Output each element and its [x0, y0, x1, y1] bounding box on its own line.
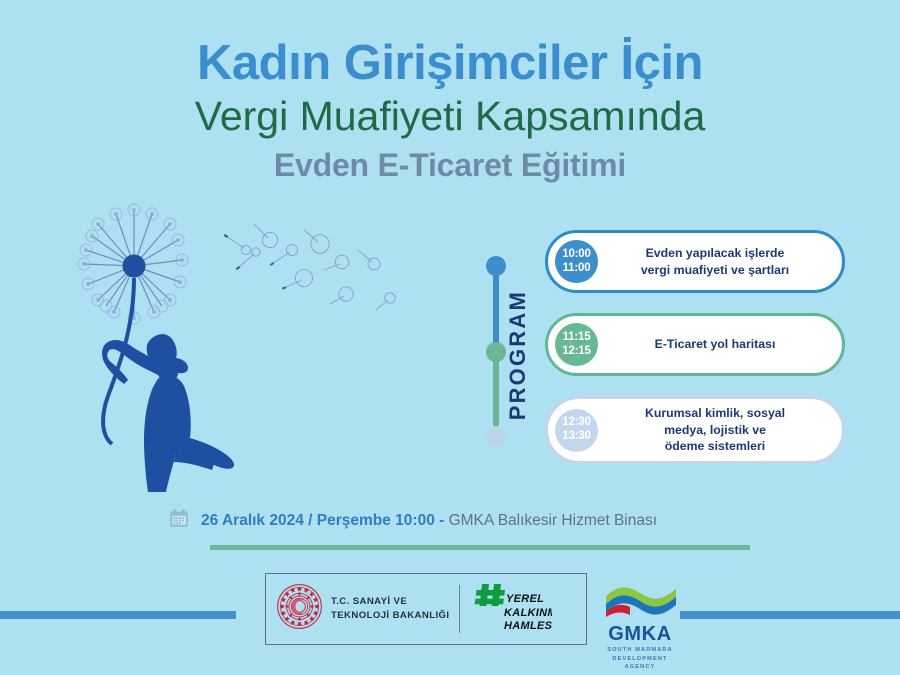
program-card-line-3c: ödeme sistemleri: [602, 438, 828, 455]
event-venue: GMKA Balıkesir Hizmet Binası: [449, 512, 657, 529]
timeline-dot-2: [486, 342, 506, 362]
program-time-badge-2: 11:15 12:15: [555, 323, 598, 366]
program-time-badge-1: 10:00 11:00: [555, 240, 598, 283]
timeline-dot-1: [486, 256, 506, 276]
program-card-line-2a: E-Ticaret yol haritası: [602, 336, 828, 353]
event-date-row: 26 Aralık 2024 / Perşembe 10:00 - GMKA B…: [168, 507, 657, 534]
program-card-text-3: Kurumsal kimlik, sosyal medya, lojistik …: [598, 405, 842, 456]
time-end-3: 13:30: [562, 430, 590, 444]
program-time-badge-3: 12:30 13:30: [555, 409, 598, 452]
hamle-line-3: HAMLESİ: [504, 619, 552, 632]
time-end-1: 11:00: [563, 262, 591, 276]
gmka-sub-line-2: DEVELOPMENT AGENCY: [596, 655, 684, 672]
program-card-list: 10:00 11:00 Evden yapılacak işlerde verg…: [545, 230, 845, 464]
footer-logo-strip: T.C. SANAYİ VE TEKNOLOJİ BAKANLIĞI YEREL…: [265, 573, 587, 645]
hashtag-icon: [475, 584, 505, 606]
poster-title-third: Evden E-Ticaret Eğitimi: [0, 146, 900, 184]
time-start-3: 12:30: [562, 416, 590, 430]
calendar-icon: [168, 507, 190, 534]
footer-bar-left: [0, 611, 236, 619]
event-separator: -: [435, 512, 449, 529]
gmka-subtitle: SOUTH MARMARA DEVELOPMENT AGENCY: [596, 646, 684, 672]
program-card-text-1: Evden yapılacak işlerde vergi muafiyeti …: [598, 245, 842, 279]
poster-title-sub: Vergi Muafiyeti Kapsamında: [0, 92, 900, 140]
poster-canvas: Kadın Girişimciler İçin Vergi Muafiyeti …: [0, 0, 900, 675]
footer-bar-right: [680, 611, 900, 619]
poster-title-main: Kadın Girişimciler İçin: [0, 38, 900, 89]
gmka-logo: GMKA SOUTH MARMARA DEVELOPMENT AGENCY: [596, 583, 684, 672]
program-card-line-1b: vergi muafiyeti ve şartları: [602, 262, 828, 279]
program-card-line-1a: Evden yapılacak işlerde: [602, 245, 828, 262]
program-card-2[interactable]: 11:15 12:15 E-Ticaret yol haritası: [545, 313, 845, 376]
title-block: Kadın Girişimciler İçin Vergi Muafiyeti …: [0, 38, 900, 185]
gmka-sub-line-1: SOUTH MARMARA: [596, 646, 684, 655]
program-card-line-3b: medya, lojistik ve: [602, 422, 828, 439]
program-label: PROGRAM: [505, 290, 531, 420]
program-card-3[interactable]: 12:30 13:30 Kurumsal kimlik, sosyal medy…: [545, 396, 845, 464]
logo-divider: [459, 585, 460, 633]
ministry-line-2: TEKNOLOJİ BAKANLIĞI: [331, 609, 449, 623]
ministry-logo: T.C. SANAYİ VE TEKNOLOJİ BAKANLIĞI: [266, 583, 449, 635]
ministry-line-1: T.C. SANAYİ VE: [331, 595, 449, 609]
hamle-line-1: YEREL: [506, 593, 544, 605]
program-card-line-3a: Kurumsal kimlik, sosyal: [602, 405, 828, 422]
event-date-text: 26 Aralık 2024 / Perşembe 10:00 - GMKA B…: [201, 513, 657, 529]
gmka-swoosh-icon: [596, 604, 684, 621]
ministry-name: T.C. SANAYİ VE TEKNOLOJİ BAKANLIĞI: [331, 595, 449, 622]
yerel-kalkinma-hamlesi-logo: YEREL KALKINMA HAMLESİ: [474, 580, 552, 639]
time-start-2: 11:15: [563, 331, 591, 345]
turkish-ministry-emblem-icon: [276, 583, 323, 635]
program-card-text-2: E-Ticaret yol haritası: [598, 336, 842, 353]
event-date: 26 Aralık 2024 / Perşembe 10:00: [201, 512, 435, 529]
gmka-wordmark: GMKA: [596, 624, 684, 644]
program-card-1[interactable]: 10:00 11:00 Evden yapılacak işlerde verg…: [545, 230, 845, 293]
time-start-1: 10:00: [562, 248, 590, 262]
time-end-2: 12:15: [562, 345, 590, 359]
hamle-line-2: KALKINMA: [504, 607, 552, 619]
timeline-dot-3: [486, 426, 506, 446]
green-divider-rule: [210, 545, 750, 550]
woman-with-dandelion-illustration: [72, 196, 402, 496]
